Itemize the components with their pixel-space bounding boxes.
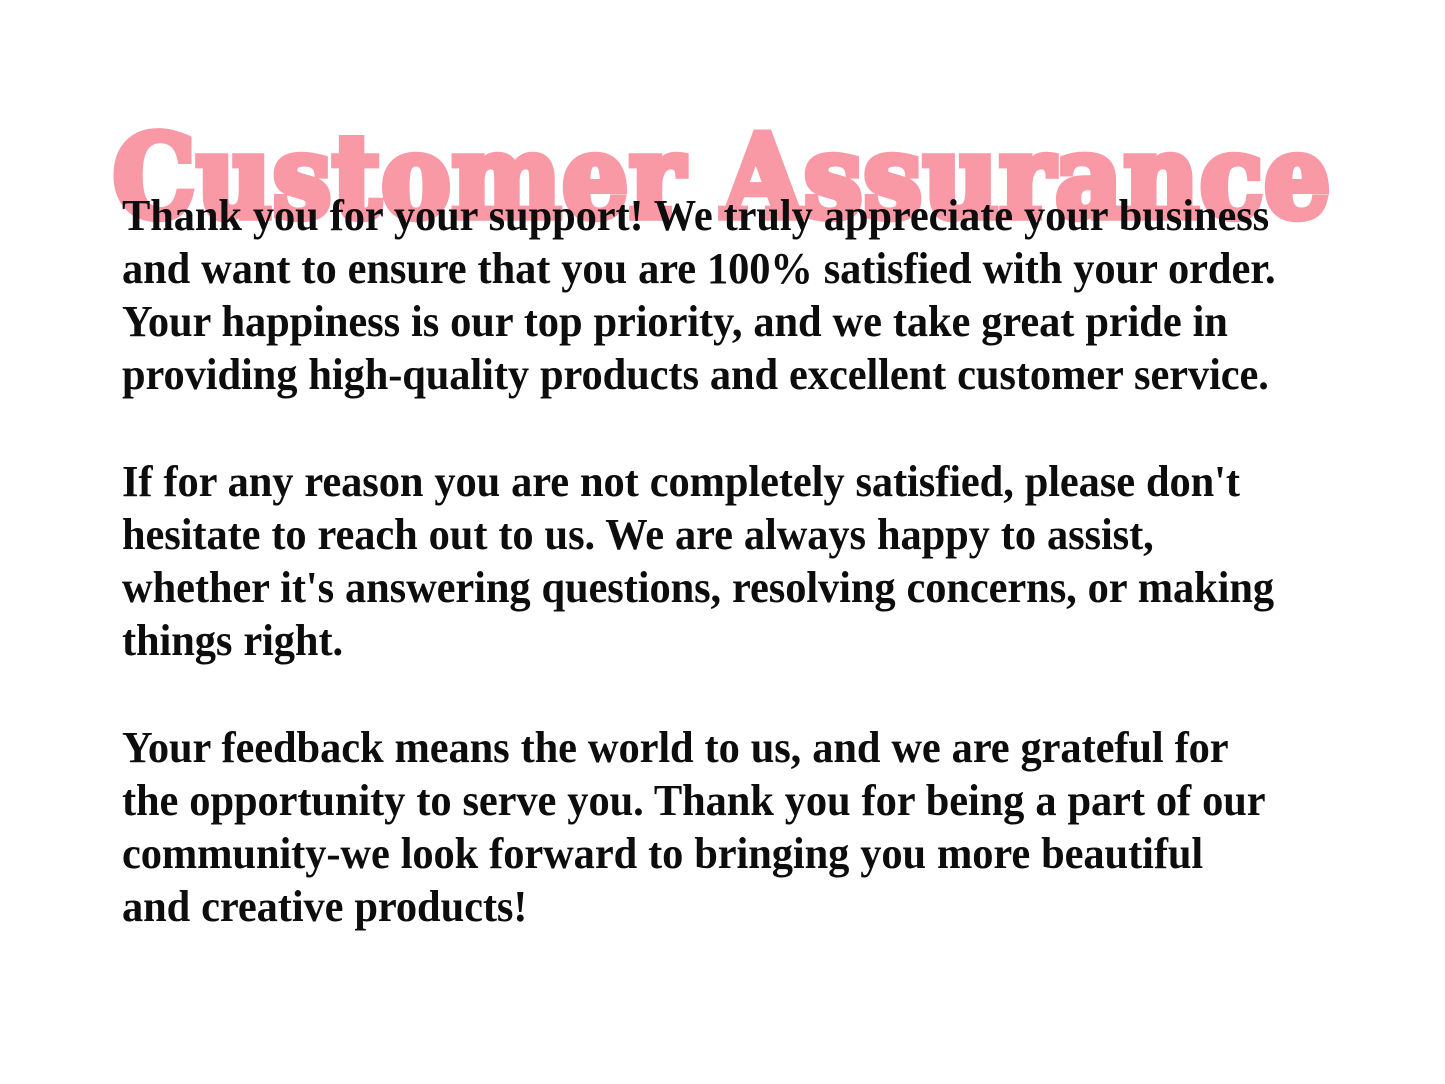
- paragraph-feedback: Your feedback means the world to us, and…: [122, 721, 1280, 933]
- paragraph-not-satisfied: If for any reason you are not completely…: [122, 455, 1280, 667]
- customer-assurance-page: Customer Assurance Thank you for your su…: [0, 0, 1445, 1084]
- paragraph-thank-you: Thank you for your support! We truly app…: [122, 189, 1280, 401]
- body-content: Thank you for your support! We truly app…: [122, 189, 1322, 933]
